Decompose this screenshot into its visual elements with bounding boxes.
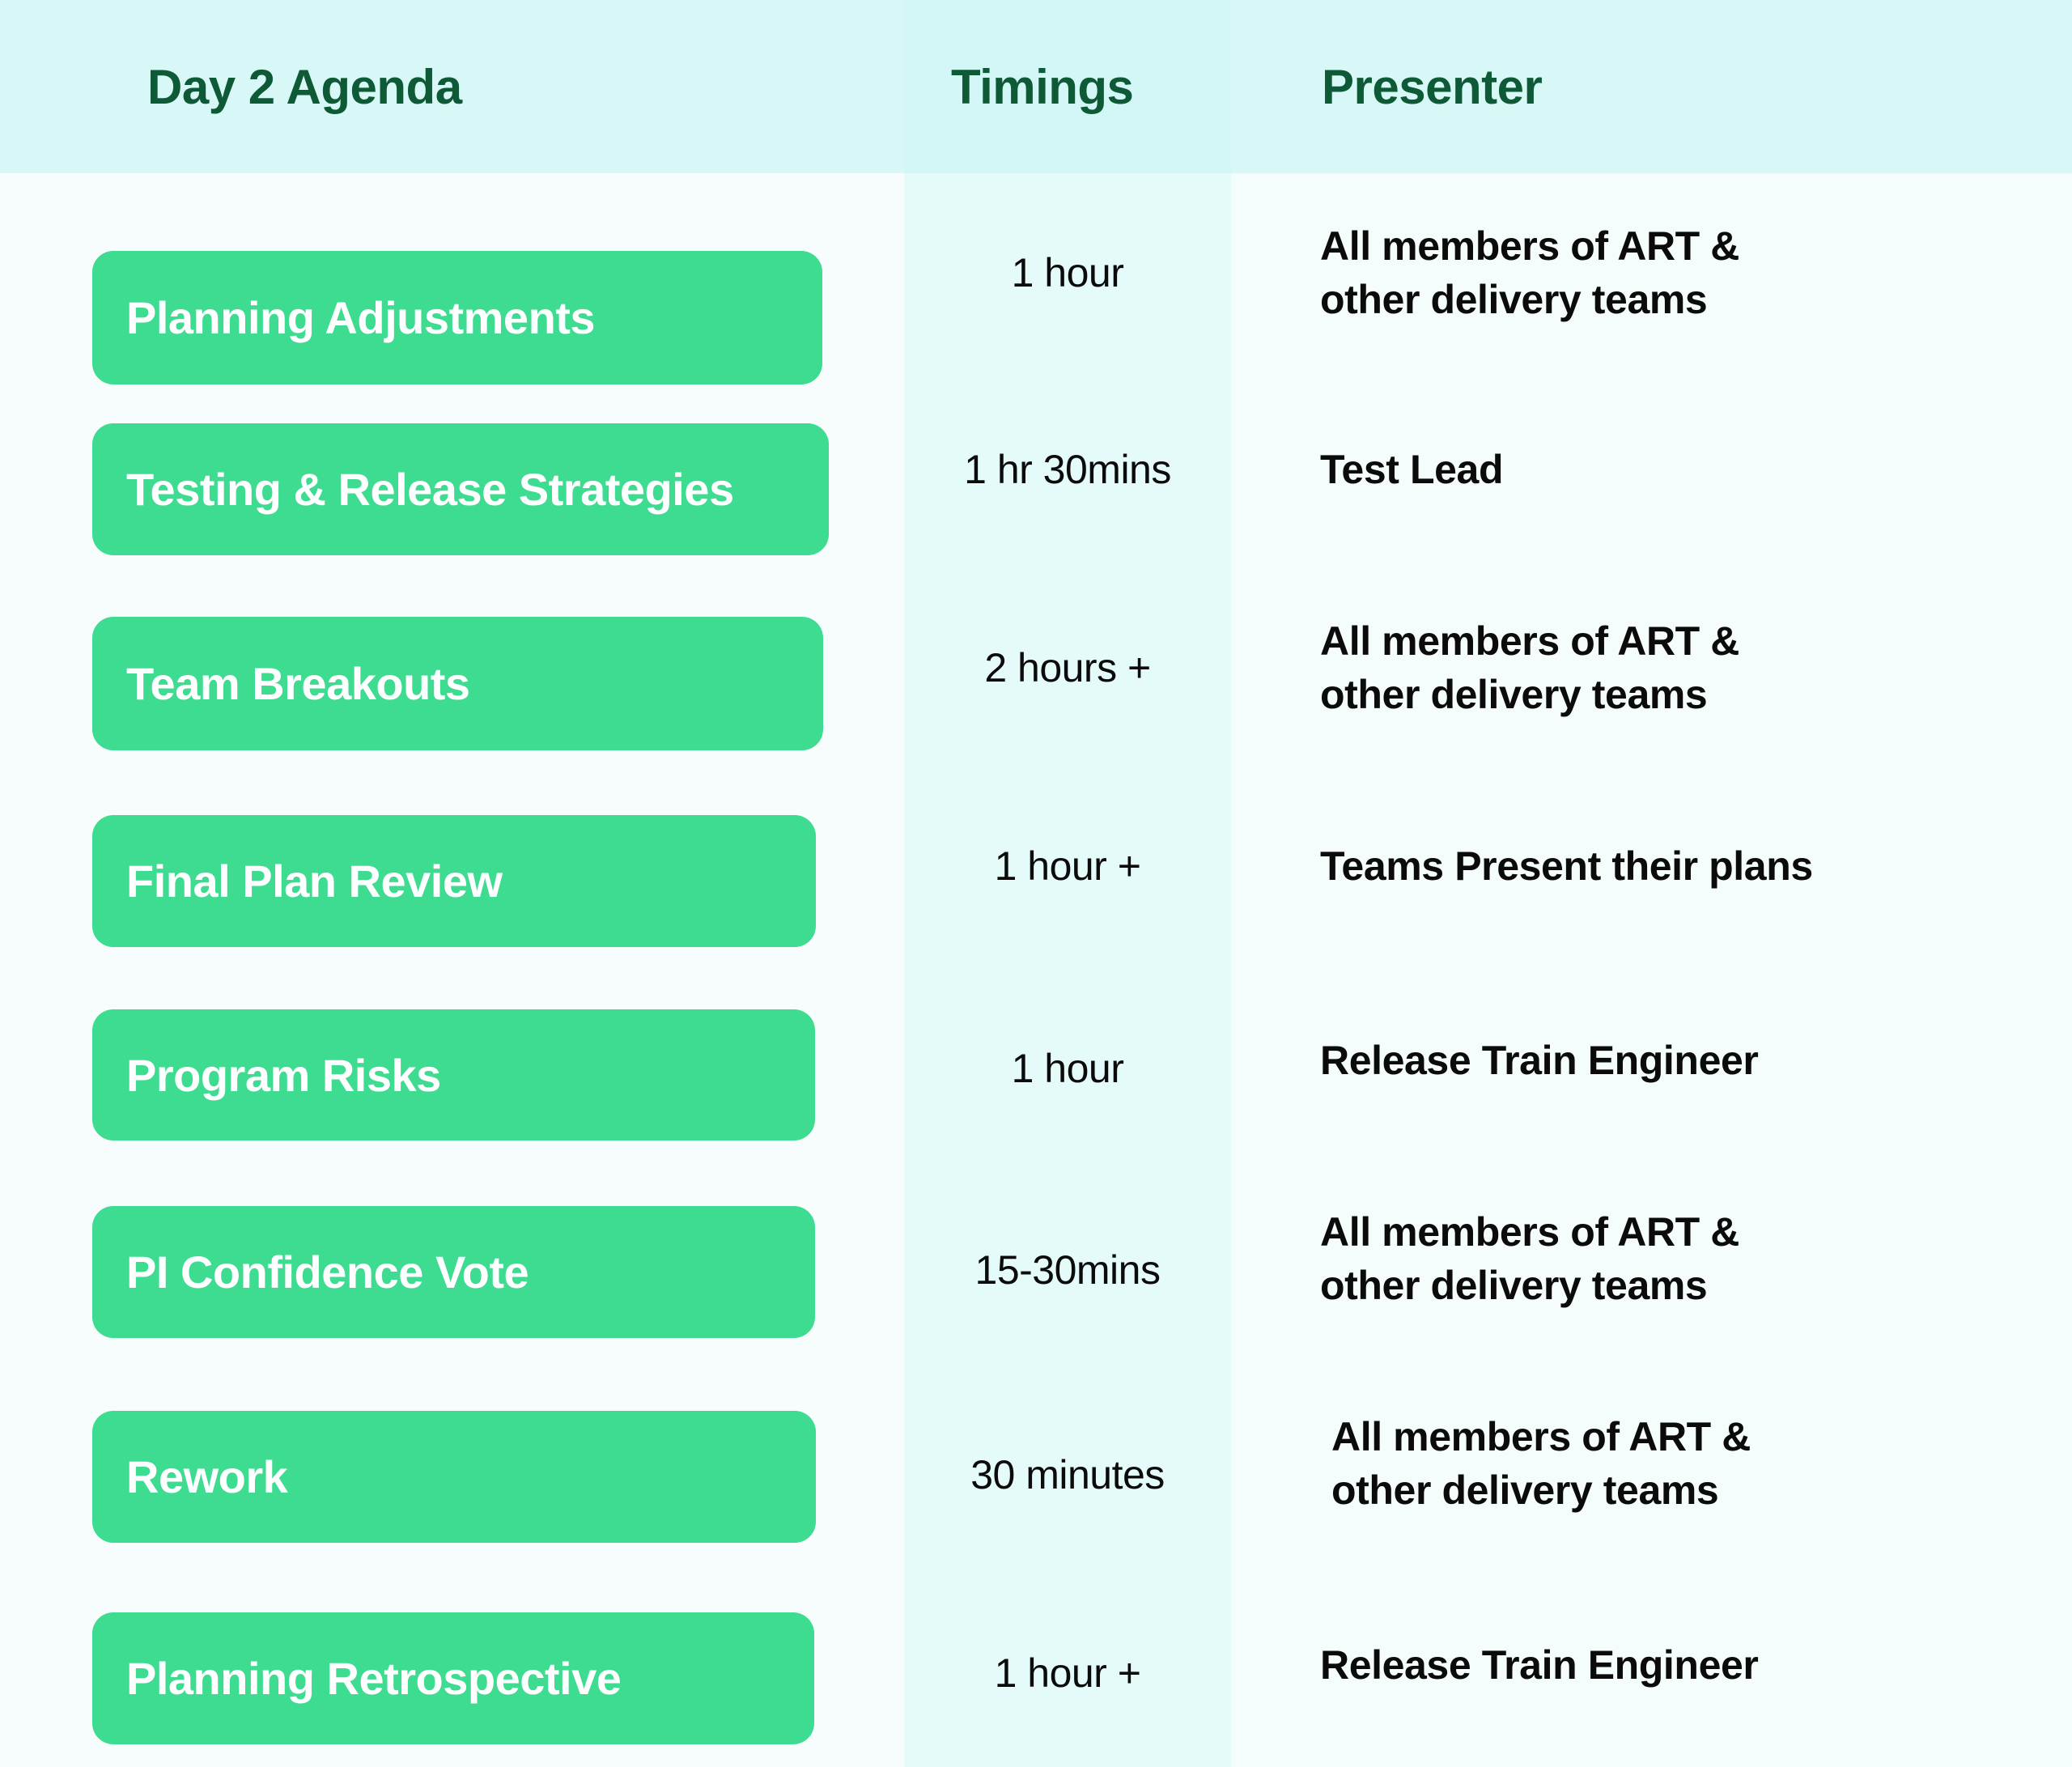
presenter-text-line: other delivery teams	[1320, 273, 1739, 326]
agenda-item-label: Planning Adjustments	[126, 291, 595, 344]
agenda-item-label: Testing & Release Strategies	[126, 463, 734, 516]
presenter-text-line: Teams Present their plans	[1320, 839, 1813, 893]
agenda-table-row: Planning Retrospective1 hour +Release Tr…	[0, 1562, 2072, 1767]
agenda-item-label: Team Breakouts	[126, 657, 470, 710]
presenter-value: All members of ART &other delivery teams	[1231, 1157, 2072, 1360]
presenter-value: Release Train Engineer	[1231, 1562, 2072, 1767]
agenda-item-label: Rework	[126, 1451, 287, 1503]
agenda-item-pill[interactable]: Planning Retrospective	[92, 1612, 814, 1744]
timing-value: 2 hours +	[904, 567, 1231, 769]
header-cell-agenda: Day 2 Agenda	[0, 0, 904, 173]
agenda-table-row: Program Risks1 hourRelease Train Enginee…	[0, 963, 2072, 1157]
agenda-item-label: Final Plan Review	[126, 855, 503, 907]
presenter-value: Test Lead	[1231, 372, 2072, 567]
presenter-text-block: All members of ART &other delivery teams	[1320, 1205, 1739, 1312]
timing-value: 1 hr 30mins	[904, 372, 1231, 567]
presenter-text-block: Teams Present their plans	[1320, 839, 1813, 893]
presenter-text-block: All members of ART &other delivery teams	[1320, 219, 1739, 326]
agenda-item-pill[interactable]: PI Confidence Vote	[92, 1206, 815, 1338]
presenter-text-line: other delivery teams	[1331, 1463, 1751, 1517]
header-label-agenda: Day 2 Agenda	[147, 59, 462, 115]
agenda-item-pill[interactable]: Program Risks	[92, 1009, 815, 1140]
presenter-text-line: All members of ART &	[1320, 219, 1739, 273]
presenter-text-block: Test Lead	[1320, 443, 1503, 496]
header-cell-timings: Timings	[904, 0, 1231, 173]
presenter-text-line: All members of ART &	[1331, 1410, 1751, 1463]
timing-value: 30 minutes	[904, 1360, 1231, 1562]
agenda-table-row: Planning Adjustments1 hourAll members of…	[0, 173, 2072, 372]
header-label-presenter: Presenter	[1322, 59, 1542, 115]
presenter-text-line: All members of ART &	[1320, 614, 1739, 668]
table-header-row: Day 2 Agenda Timings Presenter	[0, 0, 2072, 173]
presenter-value: All members of ART &other delivery teams	[1231, 567, 2072, 769]
timing-value: 1 hour +	[904, 1562, 1231, 1767]
agenda-item-pill[interactable]: Testing & Release Strategies	[92, 423, 829, 555]
presenter-text-line: Release Train Engineer	[1320, 1034, 1758, 1087]
header-label-timings: Timings	[951, 59, 1133, 115]
presenter-text-line: other delivery teams	[1320, 668, 1739, 721]
agenda-item-label: Planning Retrospective	[126, 1652, 621, 1705]
presenter-text-block: Release Train Engineer	[1320, 1638, 1758, 1692]
timing-value: 15-30mins	[904, 1157, 1231, 1360]
agenda-item-pill[interactable]: Final Plan Review	[92, 815, 816, 947]
agenda-table-row: Final Plan Review1 hour +Teams Present t…	[0, 769, 2072, 963]
agenda-item-pill[interactable]: Rework	[92, 1411, 816, 1543]
timing-value: 1 hour	[904, 173, 1231, 372]
presenter-value: All members of ART &other delivery teams	[1231, 173, 2072, 372]
presenter-value: Teams Present their plans	[1231, 769, 2072, 963]
agenda-item-label: PI Confidence Vote	[126, 1246, 529, 1298]
header-cell-presenter: Presenter	[1231, 0, 2072, 173]
presenter-text-line: other delivery teams	[1320, 1259, 1739, 1312]
timing-value: 1 hour	[904, 963, 1231, 1157]
presenter-text-block: All members of ART &other delivery teams	[1331, 1410, 1751, 1517]
presenter-text-line: Test Lead	[1320, 443, 1503, 496]
presenter-text-block: Release Train Engineer	[1320, 1034, 1758, 1087]
agenda-table-row: Testing & Release Strategies1 hr 30minsT…	[0, 372, 2072, 567]
agenda-table-row: PI Confidence Vote15-30minsAll members o…	[0, 1157, 2072, 1360]
agenda-item-label: Program Risks	[126, 1049, 441, 1102]
agenda-item-pill[interactable]: Planning Adjustments	[92, 251, 822, 384]
timing-value: 1 hour +	[904, 769, 1231, 963]
presenter-text-block: All members of ART &other delivery teams	[1320, 614, 1739, 721]
presenter-text-line: All members of ART &	[1320, 1205, 1739, 1259]
presenter-text-line: Release Train Engineer	[1320, 1638, 1758, 1692]
agenda-table-row: Team Breakouts2 hours +All members of AR…	[0, 567, 2072, 769]
presenter-value: All members of ART &other delivery teams	[1231, 1360, 2072, 1562]
agenda-item-pill[interactable]: Team Breakouts	[92, 617, 823, 750]
agenda-table-row: Rework30 minutesAll members of ART &othe…	[0, 1360, 2072, 1562]
presenter-value: Release Train Engineer	[1231, 963, 2072, 1157]
